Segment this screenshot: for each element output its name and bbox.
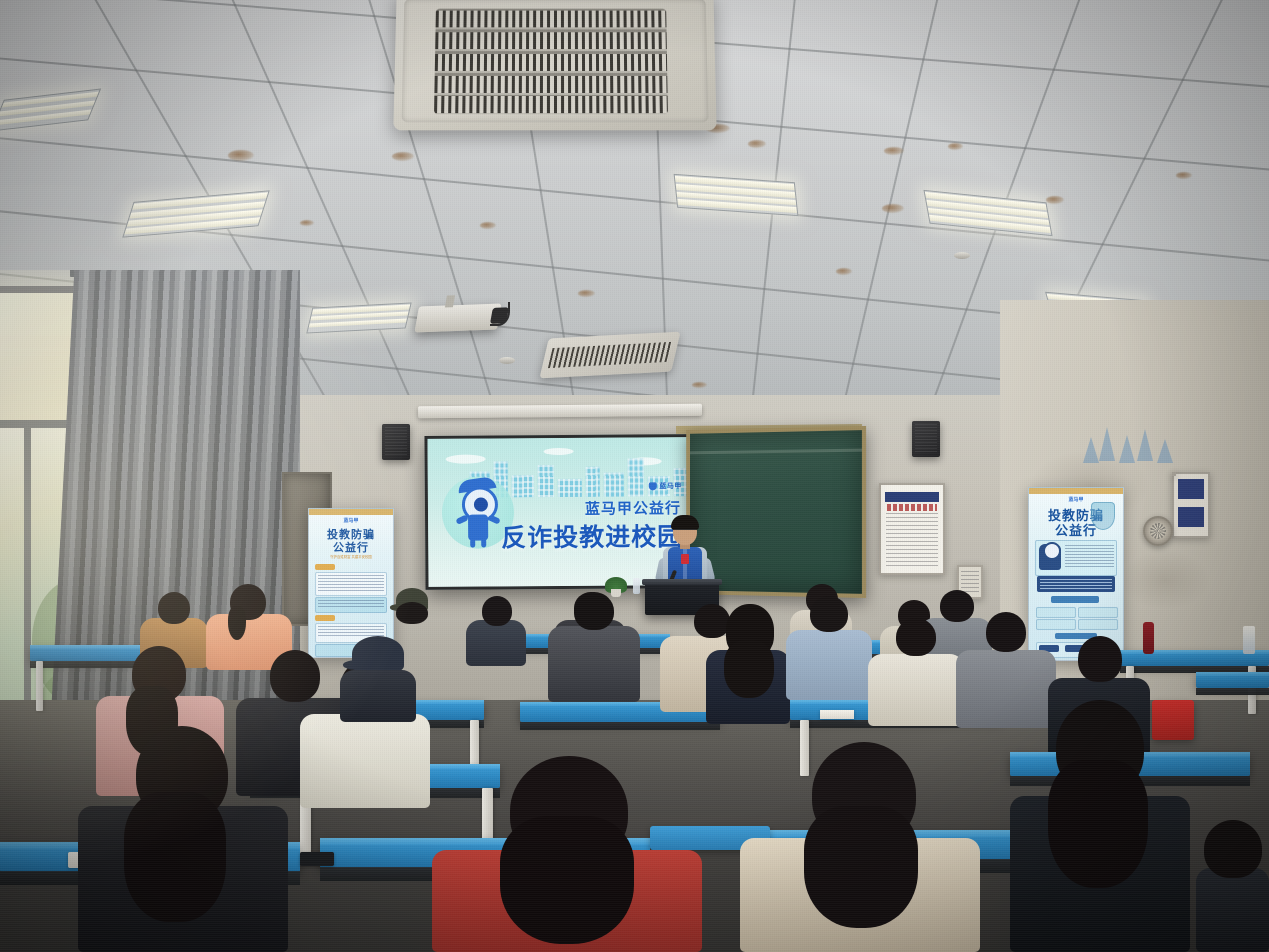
volunteer-lecturer <box>655 518 715 588</box>
ceiling-light-fixture <box>122 190 269 237</box>
paper-sheet <box>820 710 854 719</box>
wall-mounted-fan <box>1143 516 1173 546</box>
wall-speaker-right <box>912 421 940 457</box>
ceiling-light-fixture <box>674 174 799 216</box>
student-black-jacket-left <box>78 726 288 952</box>
banner-left-subtitle: 守护百姓财富 共建平安校园 <box>309 554 393 559</box>
classroom-photo: 蓝马甲 蓝马甲公益行 反诈投教进校园 蓝马甲 投教防骗 公益行 守护百姓财富 共… <box>0 0 1269 952</box>
framed-classroom-notice <box>1172 472 1176 476</box>
banner-right-mascot-head <box>1043 542 1061 560</box>
slide-logo: 蓝马甲 <box>648 481 682 491</box>
mascot-eye <box>474 497 488 511</box>
smoke-detector <box>499 357 515 364</box>
eyeglasses <box>674 529 696 535</box>
red-id-badge <box>681 554 689 564</box>
student-dark-hoodie <box>1196 820 1269 952</box>
framed-wall-cards <box>1172 472 1210 538</box>
slide-logo-mark <box>648 482 656 490</box>
desk-leg <box>36 661 43 711</box>
ceiling-cassette-air-conditioner <box>393 0 716 130</box>
slide-logo-text: 蓝马甲 <box>659 481 682 491</box>
framed-classroom-notice <box>879 483 945 575</box>
wall-speaker-left <box>382 424 410 460</box>
projector-cable <box>490 302 510 326</box>
baseball-cap <box>352 636 404 672</box>
student-camo-jacket <box>548 592 640 702</box>
student-navy-vest <box>700 604 796 724</box>
desk-plant <box>605 577 627 593</box>
student-white-coat <box>868 618 964 726</box>
student-beige-fleece <box>740 742 980 952</box>
student-navy-coat <box>466 596 526 666</box>
beverage-can <box>1243 626 1255 654</box>
ceiling-air-vent <box>539 332 680 379</box>
student-blue-hoodie <box>786 596 872 700</box>
ac-louver-grille <box>434 9 668 114</box>
tree-wall-decal <box>1075 425 1185 467</box>
ceiling-light-fixture <box>306 302 411 333</box>
student-navy-cap <box>340 636 416 722</box>
student-dark-right <box>1010 700 1190 952</box>
student-red-hoodie <box>432 756 702 952</box>
smartphone-on-desk[interactable] <box>300 852 334 866</box>
presentation-slide: 蓝马甲 蓝马甲公益行 反诈投教进校园 <box>427 437 691 587</box>
banner-left-line2: 公益行 <box>309 539 393 555</box>
retractable-screen-housing <box>418 404 702 418</box>
smoke-detector <box>954 252 970 259</box>
banner-left-logo: 蓝马甲 <box>309 517 393 524</box>
blue-student-desk <box>1196 672 1269 688</box>
banner-right-shield-icon <box>1091 502 1115 530</box>
slide-headline-small: 蓝马甲公益行 <box>585 497 681 519</box>
ceiling-light-fixture <box>0 89 101 132</box>
ceiling-mounted-projector <box>414 304 501 333</box>
